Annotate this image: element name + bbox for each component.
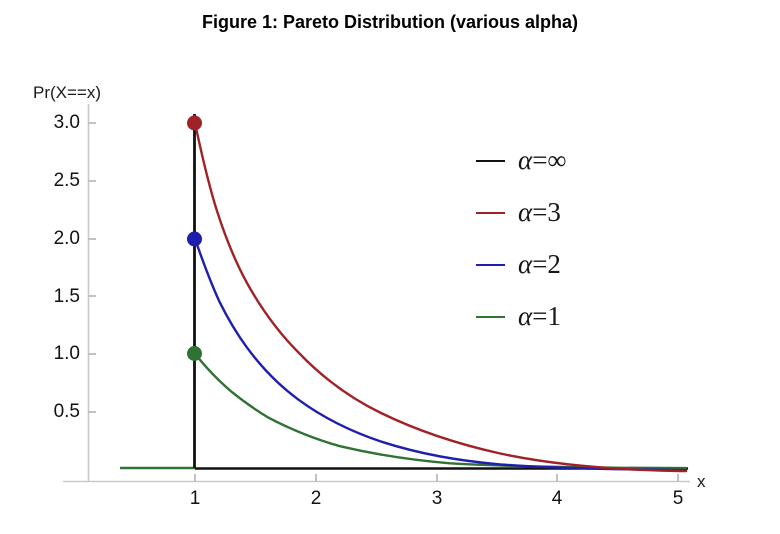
legend-alpha-symbol: α <box>518 145 532 175</box>
legend-alpha-value: 3 <box>547 197 561 227</box>
legend-label-alpha-2: α=2 <box>518 244 561 284</box>
series-alpha-1 <box>195 354 686 469</box>
marker-alpha-1-peak <box>187 346 202 361</box>
x-tick-marks <box>195 474 678 482</box>
marker-alpha-2-peak <box>187 232 202 247</box>
legend-alpha-value: 1 <box>547 301 561 331</box>
legend-alpha-symbol: α <box>518 197 532 227</box>
legend-alpha-value: ∞ <box>547 145 566 175</box>
legend-label-alpha-3: α=3 <box>518 192 561 232</box>
legend-alpha-symbol: α <box>518 249 532 279</box>
legend-equals-sign: = <box>532 301 547 331</box>
legend-alpha-symbol: α <box>518 301 532 331</box>
legend-swatch-alpha-3 <box>476 212 505 214</box>
legend-swatch-alpha-1 <box>476 316 505 318</box>
legend-item-alpha-3[interactable]: α=3 <box>470 192 650 244</box>
legend-item-alpha-infinity[interactable]: α=∞ <box>470 140 650 192</box>
legend-swatch-alpha-2 <box>476 264 505 266</box>
legend-equals-sign: = <box>532 145 547 175</box>
marker-alpha-3-peak <box>187 116 202 131</box>
legend-label-alpha-1: α=1 <box>518 296 561 336</box>
legend-alpha-value: 2 <box>547 249 561 279</box>
plot-canvas <box>0 0 780 534</box>
legend: α=∞ α=3 α=2 α=1 <box>470 140 650 348</box>
figure-container: Figure 1: Pareto Distribution (various a… <box>0 0 780 534</box>
legend-equals-sign: = <box>532 249 547 279</box>
legend-swatch-alpha-infinity <box>476 160 505 162</box>
legend-equals-sign: = <box>532 197 547 227</box>
legend-item-alpha-2[interactable]: α=2 <box>470 244 650 296</box>
legend-label-alpha-infinity: α=∞ <box>518 140 567 180</box>
y-tick-marks <box>89 123 97 412</box>
legend-item-alpha-1[interactable]: α=1 <box>470 296 650 348</box>
